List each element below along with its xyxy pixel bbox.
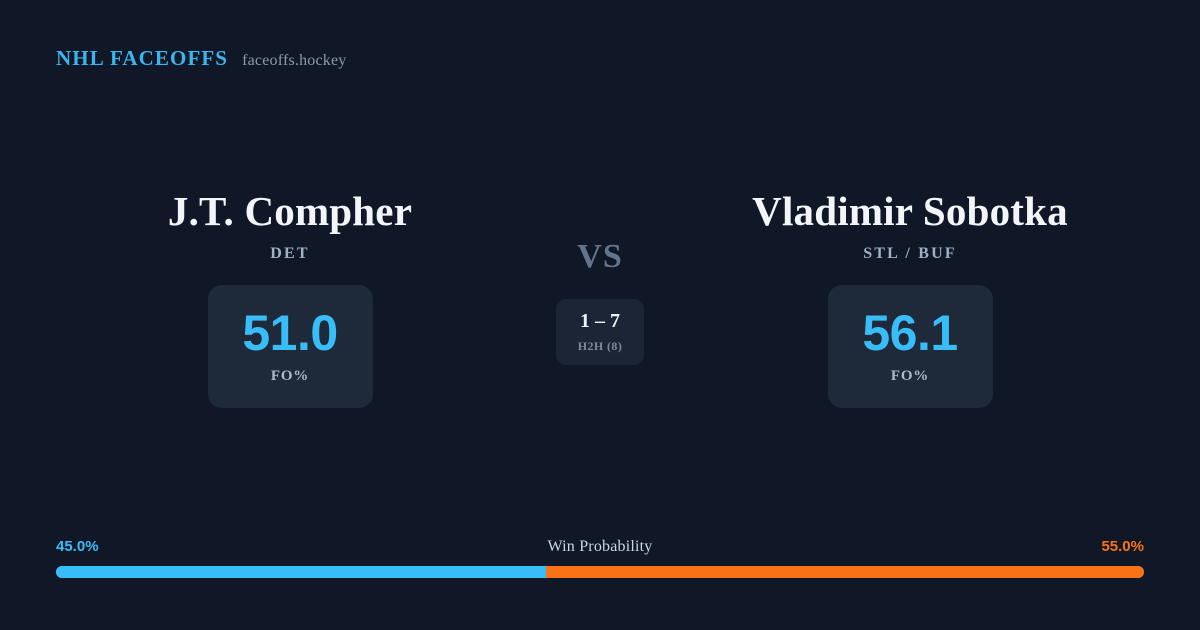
graphic-canvas: NHL FACEOFFS faceoffs.hockey J.T. Comphe… [0,0,1200,630]
player-card-left: J.T. Compher DET 51.0 FO% [70,190,510,408]
player-team-right: STL / BUF [863,245,957,263]
player-name-left: J.T. Compher [168,190,412,233]
win-probability-title: Win Probability [547,538,652,556]
vs-label: VS [577,240,622,274]
head-to-head-record: 1 – 7 [580,311,620,331]
player-name-right: Vladimir Sobotka [752,190,1068,233]
stat-label-right: FO% [891,368,929,385]
win-probability-bar-left-fill [56,566,546,578]
brand-title: NHL FACEOFFS [56,46,228,71]
win-probability-right-value: 55.0% [1101,538,1144,555]
stat-value-left: 51.0 [242,308,337,358]
player-team-left: DET [270,245,310,263]
win-probability-left-value: 45.0% [56,538,99,555]
header: NHL FACEOFFS faceoffs.hockey [56,46,347,71]
win-probability-bar [56,566,1144,578]
win-probability-section: 45.0% Win Probability 55.0% [56,538,1144,578]
stat-value-right: 56.1 [862,308,957,358]
head-to-head-label: H2H (8) [578,339,622,354]
versus-block: VS 1 – 7 H2H (8) [510,190,690,365]
stat-card-right: 56.1 FO% [828,285,993,408]
stat-label-left: FO% [271,368,309,385]
matchup-section: J.T. Compher DET 51.0 FO% VS 1 – 7 H2H (… [0,190,1200,408]
player-card-right: Vladimir Sobotka STL / BUF 56.1 FO% [690,190,1130,408]
brand-domain: faceoffs.hockey [242,52,346,70]
win-probability-bar-right-fill [546,566,1144,578]
head-to-head-card: 1 – 7 H2H (8) [556,299,644,365]
win-probability-labels: 45.0% Win Probability 55.0% [56,538,1144,556]
stat-card-left: 51.0 FO% [208,285,373,408]
